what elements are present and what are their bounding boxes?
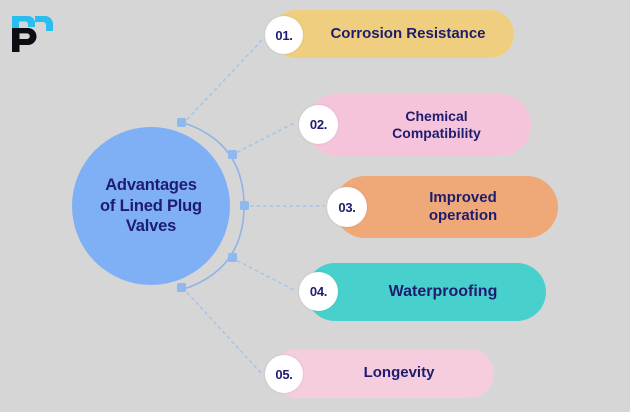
- item-number-05: 05.: [275, 367, 292, 382]
- item-label-02: Chemical Compatibility: [306, 108, 531, 142]
- center-circle: Advantages of Lined Plug Valves: [72, 127, 230, 285]
- item-pill-01[interactable]: Corrosion Resistance: [272, 10, 514, 58]
- item-number-badge-01[interactable]: 01.: [265, 16, 303, 54]
- item-pill-02[interactable]: Chemical Compatibility: [306, 94, 531, 156]
- item-label-03: Improved operation: [334, 189, 558, 226]
- item-pill-03[interactable]: Improved operation: [334, 176, 558, 238]
- infographic-canvas: Advantages of Lined Plug Valves Corrosio…: [0, 0, 630, 412]
- item-pill-04[interactable]: Waterproofing: [306, 263, 546, 321]
- item-label-05: Longevity: [272, 364, 494, 382]
- center-title: Advantages of Lined Plug Valves: [100, 175, 202, 237]
- item-label-01: Corrosion Resistance: [272, 25, 514, 43]
- item-number-badge-04[interactable]: 04.: [299, 272, 338, 311]
- item-label-04: Waterproofing: [306, 282, 546, 302]
- item-number-badge-03[interactable]: 03.: [327, 187, 367, 227]
- item-pill-05[interactable]: Longevity: [272, 349, 494, 398]
- item-number-02: 02.: [310, 117, 327, 132]
- item-number-badge-05[interactable]: 05.: [265, 355, 303, 393]
- item-number-03: 03.: [338, 200, 355, 215]
- item-number-badge-02[interactable]: 02.: [299, 105, 338, 144]
- item-number-01: 01.: [275, 28, 292, 43]
- item-number-04: 04.: [310, 284, 327, 299]
